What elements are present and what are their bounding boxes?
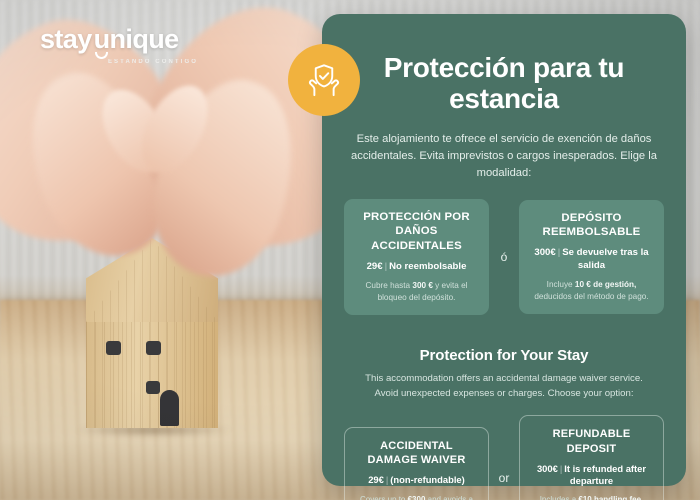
page-title: Protección para tu estancia: [344, 52, 664, 115]
option-note-strong: 10 € de gestión,: [575, 280, 636, 289]
option-card-accidental-damage-en[interactable]: ACCIDENTAL DAMAGE WAIVER 29€|(non-refund…: [344, 427, 489, 500]
price-divider: |: [386, 474, 388, 485]
option-price-line: 300€|It is refunded after departure: [530, 463, 653, 487]
option-price: 300€: [534, 247, 555, 258]
option-note: Cubre hasta 300 € y evita el bloqueo del…: [354, 280, 479, 303]
price-divider: |: [385, 261, 388, 272]
option-note-prefix: Covers up to: [360, 495, 408, 500]
option-note-prefix: Includes a: [540, 495, 579, 500]
shield-check-in-hands-icon: [288, 44, 360, 116]
option-note: Includes a €10 handling fee, deducted fr…: [530, 494, 653, 500]
option-title: REFUNDABLE DEPOSIT: [530, 427, 653, 455]
option-card-refundable-deposit-en[interactable]: REFUNDABLE DEPOSIT 300€|It is refunded a…: [519, 415, 664, 500]
option-price-detail: No reembolsable: [389, 261, 466, 272]
option-price: 300€: [537, 463, 558, 474]
promo-banner: stay unique ESTANDO CONTIGO Protección p…: [0, 0, 700, 500]
protection-panel: Protección para tu estancia Este alojami…: [322, 14, 686, 486]
option-note-prefix: Cubre hasta: [366, 281, 413, 290]
option-note: Incluye 10 € de gestión, deducidos del m…: [529, 279, 654, 302]
option-price-line: 29€|No reembolsable: [354, 261, 479, 273]
logo-word-unique: unique: [94, 24, 179, 54]
option-note-prefix: Incluye: [547, 280, 575, 289]
options-separator-es: ó: [489, 250, 519, 264]
options-row-english: ACCIDENTAL DAMAGE WAIVER 29€|(non-refund…: [344, 415, 664, 500]
option-note-suffix: deducidos del método de pago.: [534, 292, 648, 301]
option-note: Covers up to €300 and avoids a deposit h…: [355, 494, 478, 500]
option-price: 29€: [367, 261, 383, 272]
option-price-line: 300€|Se devuelve tras la salida: [529, 247, 654, 272]
option-note-strong: €10 handling fee,: [578, 495, 643, 500]
smile-icon: [95, 52, 108, 59]
panel-description: Este alojamiento te ofrece el servicio d…: [344, 131, 664, 183]
option-price: 29€: [368, 474, 384, 485]
option-title: DEPÓSITO REEMBOLSABLE: [529, 211, 654, 240]
option-price-detail: (non-refundable): [390, 474, 464, 485]
price-divider: |: [560, 463, 562, 474]
option-price-line: 29€|(non-refundable): [355, 474, 478, 486]
option-title: ACCIDENTAL DAMAGE WAIVER: [355, 439, 478, 467]
option-card-accidental-damage-es[interactable]: PROTECCIÓN POR DAÑOS ACCIDENTALES 29€|No…: [344, 199, 489, 316]
option-card-refundable-deposit-es[interactable]: DEPÓSITO REEMBOLSABLE 300€|Se devuelve t…: [519, 200, 664, 314]
logo-wordmark: stay unique: [40, 24, 200, 55]
option-note-strong: €300: [408, 495, 426, 500]
brand-logo: stay unique ESTANDO CONTIGO: [40, 24, 200, 65]
english-section-title: Protection for Your Stay: [344, 347, 664, 364]
logo-word-unique-wrap: unique: [94, 24, 179, 55]
options-row-spanish: PROTECCIÓN POR DAÑOS ACCIDENTALES 29€|No…: [344, 199, 664, 316]
english-section-description: This accommodation offers an accidental …: [344, 372, 664, 401]
logo-tagline: ESTANDO CONTIGO: [40, 59, 200, 65]
option-title: PROTECCIÓN POR DAÑOS ACCIDENTALES: [354, 210, 479, 254]
options-separator-en: or: [489, 471, 519, 485]
option-price-detail: It is refunded after departure: [564, 463, 646, 486]
option-note-strong: 300 €: [412, 281, 433, 290]
option-price-detail: Se devuelve tras la salida: [562, 247, 648, 270]
price-divider: |: [558, 247, 561, 258]
logo-word-stay: stay: [40, 24, 92, 55]
